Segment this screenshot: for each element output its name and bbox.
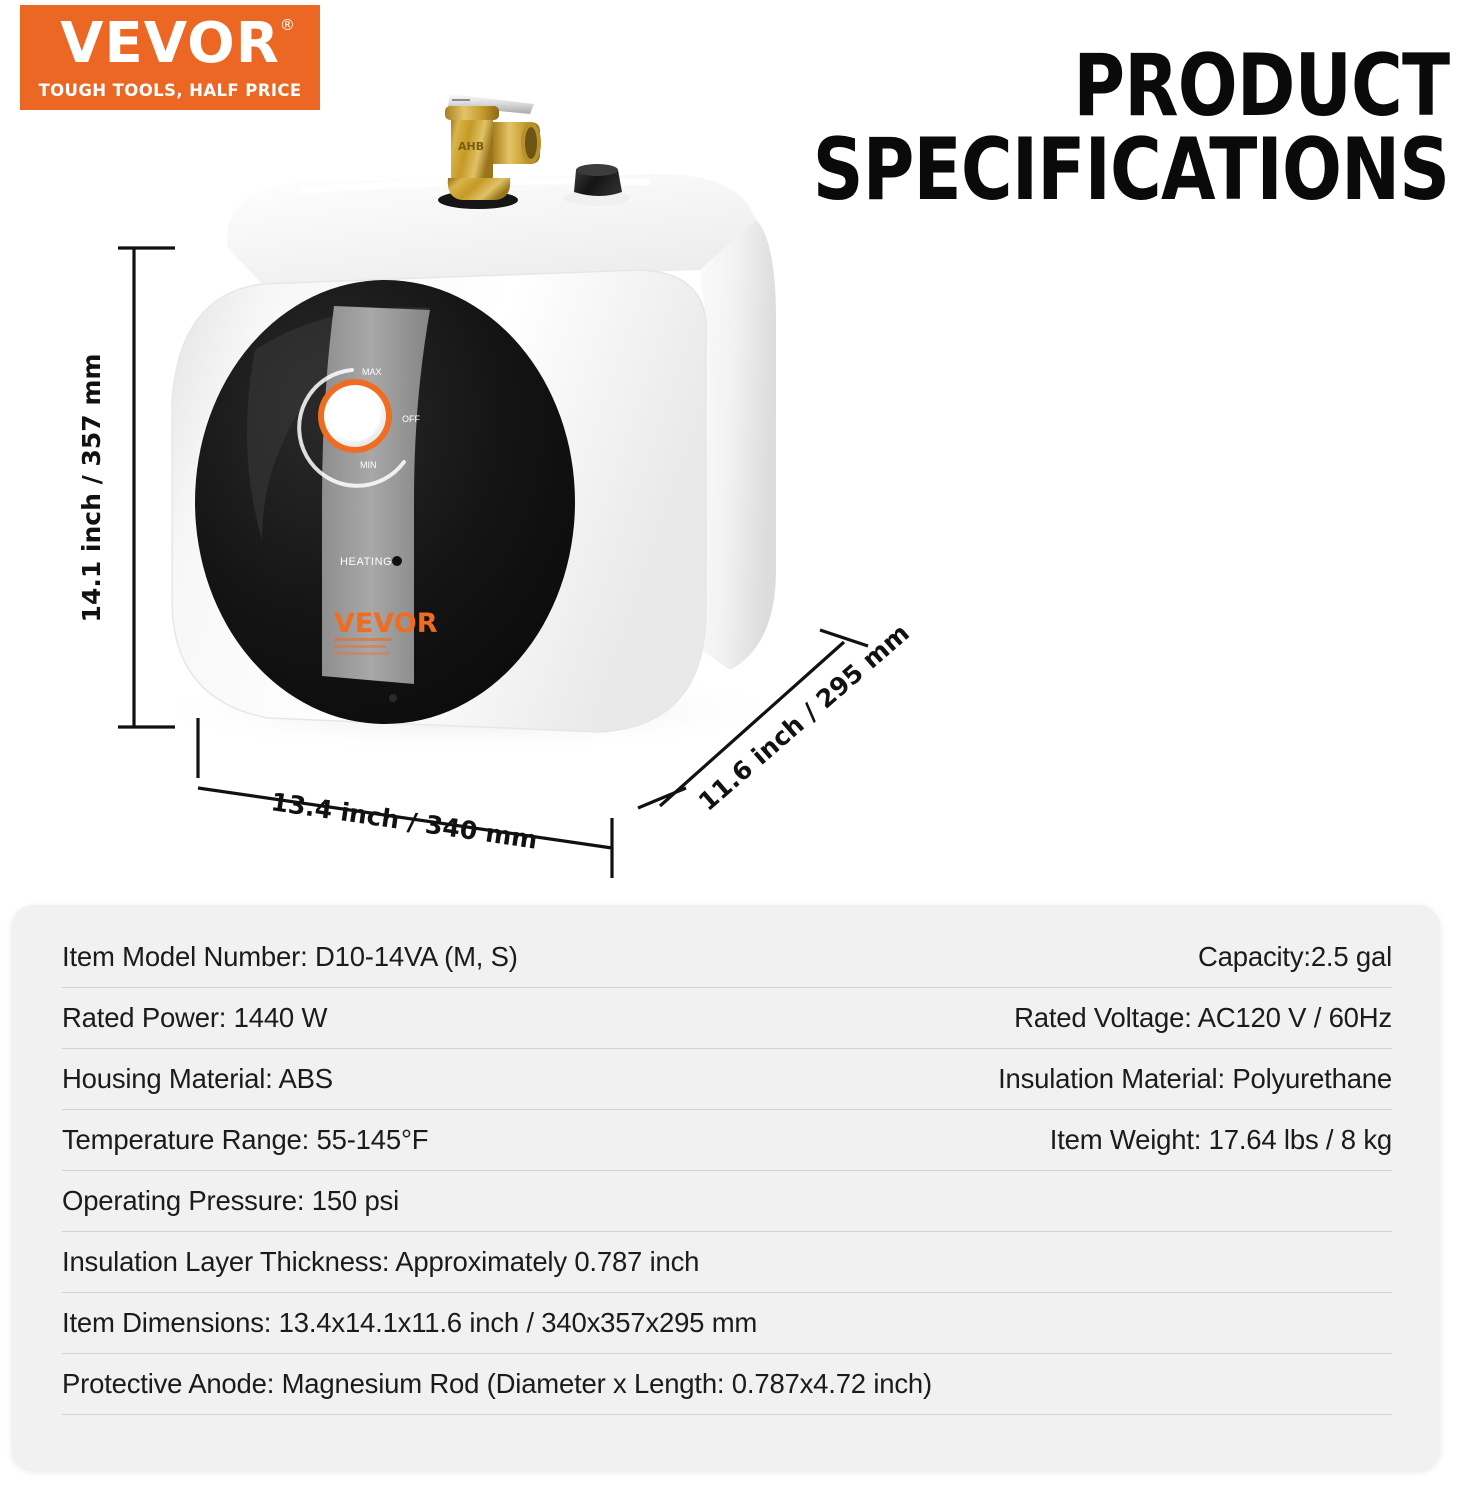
brand-wordmark: VEVOR ®: [60, 16, 280, 72]
spec-label-right: Item Weight: 17.64 lbs / 8 kg: [1050, 1124, 1392, 1156]
registered-trademark-icon: ®: [280, 18, 296, 33]
table-row: Rated Power: 1440 W Rated Voltage: AC120…: [62, 988, 1392, 1049]
table-row: Operating Pressure: 150 psi: [62, 1171, 1392, 1232]
table-row: Item Model Number: D10-14VA (M, S) Capac…: [62, 927, 1392, 988]
knob-label-max: MAX: [362, 367, 382, 377]
knob-label-min: MIN: [360, 460, 377, 470]
spec-label-right: Rated Voltage: AC120 V / 60Hz: [1014, 1002, 1392, 1034]
spec-label-right: Insulation Material: Polyurethane: [998, 1063, 1392, 1095]
svg-text:VEVOR: VEVOR: [334, 608, 438, 639]
knob-label-off: OFF: [402, 414, 420, 424]
dimension-height: [118, 248, 175, 727]
spec-label-left: Protective Anode: Magnesium Rod (Diamete…: [62, 1368, 932, 1400]
spec-label-left: Housing Material: ABS: [62, 1063, 333, 1095]
spec-label-left: Operating Pressure: 150 psi: [62, 1185, 399, 1217]
lower-led-icon: [389, 694, 397, 702]
spec-label-left: Item Model Number: D10-14VA (M, S): [62, 941, 518, 973]
table-row: Item Dimensions: 13.4x14.1x11.6 inch / 3…: [62, 1293, 1392, 1354]
table-row: Temperature Range: 55-145°F Item Weight:…: [62, 1110, 1392, 1171]
spec-label-left: Rated Power: 1440 W: [62, 1002, 327, 1034]
table-row: Protective Anode: Magnesium Rod (Diamete…: [62, 1354, 1392, 1415]
table-row: Housing Material: ABS Insulation Materia…: [62, 1049, 1392, 1110]
spec-label-left: Item Dimensions: 13.4x14.1x11.6 inch / 3…: [62, 1307, 757, 1339]
specifications-card: Item Model Number: D10-14VA (M, S) Capac…: [12, 905, 1440, 1470]
dimension-height-label: 14.1 inch / 357 mm: [77, 354, 106, 623]
heating-led-icon: [392, 556, 402, 566]
specifications-table: Item Model Number: D10-14VA (M, S) Capac…: [62, 927, 1392, 1415]
heating-label: HEATING: [340, 556, 392, 568]
spec-label-left: Temperature Range: 55-145°F: [62, 1124, 428, 1156]
spec-label-right: Capacity:2.5 gal: [1198, 941, 1392, 973]
control-face-panel: [195, 280, 575, 724]
brand-wordmark-text: VEVOR: [60, 11, 280, 76]
spec-label-left: Insulation Layer Thickness: Approximatel…: [62, 1246, 699, 1278]
dimension-width-label: 13.4 inch / 340 mm: [269, 787, 539, 855]
valve-shank: [448, 178, 510, 200]
product-illustration: MAX OFF MIN HEATING VEVOR AHB: [0, 70, 1000, 890]
svg-text:AHB: AHB: [458, 140, 484, 153]
table-row: Insulation Layer Thickness: Approximatel…: [62, 1232, 1392, 1293]
